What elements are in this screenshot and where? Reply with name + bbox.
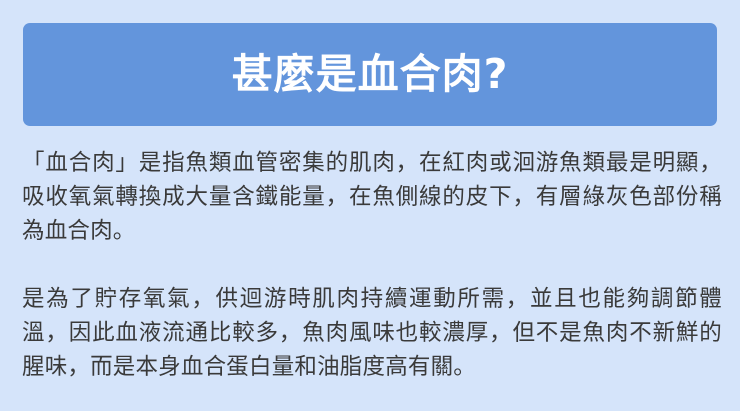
page-title: 甚麼是血合肉? (232, 53, 509, 96)
title-banner: 甚麼是血合肉? (23, 23, 717, 126)
body-text-area: 「血合肉」是指魚類血管密集的肌肉，在紅肉或洄游魚類最是明顯，吸收氧氣轉換成大量含… (22, 146, 722, 396)
slide-root: 甚麼是血合肉? 「血合肉」是指魚類血管密集的肌肉，在紅肉或洄游魚類最是明顯，吸收… (0, 0, 740, 411)
paragraph-2: 是為了貯存氧氣，供迴游時肌肉持續運動所需，並且也能夠調節體溫，因此血液流通比較多… (22, 282, 722, 384)
paragraph-1: 「血合肉」是指魚類血管密集的肌肉，在紅肉或洄游魚類最是明顯，吸收氧氣轉換成大量含… (22, 146, 722, 248)
